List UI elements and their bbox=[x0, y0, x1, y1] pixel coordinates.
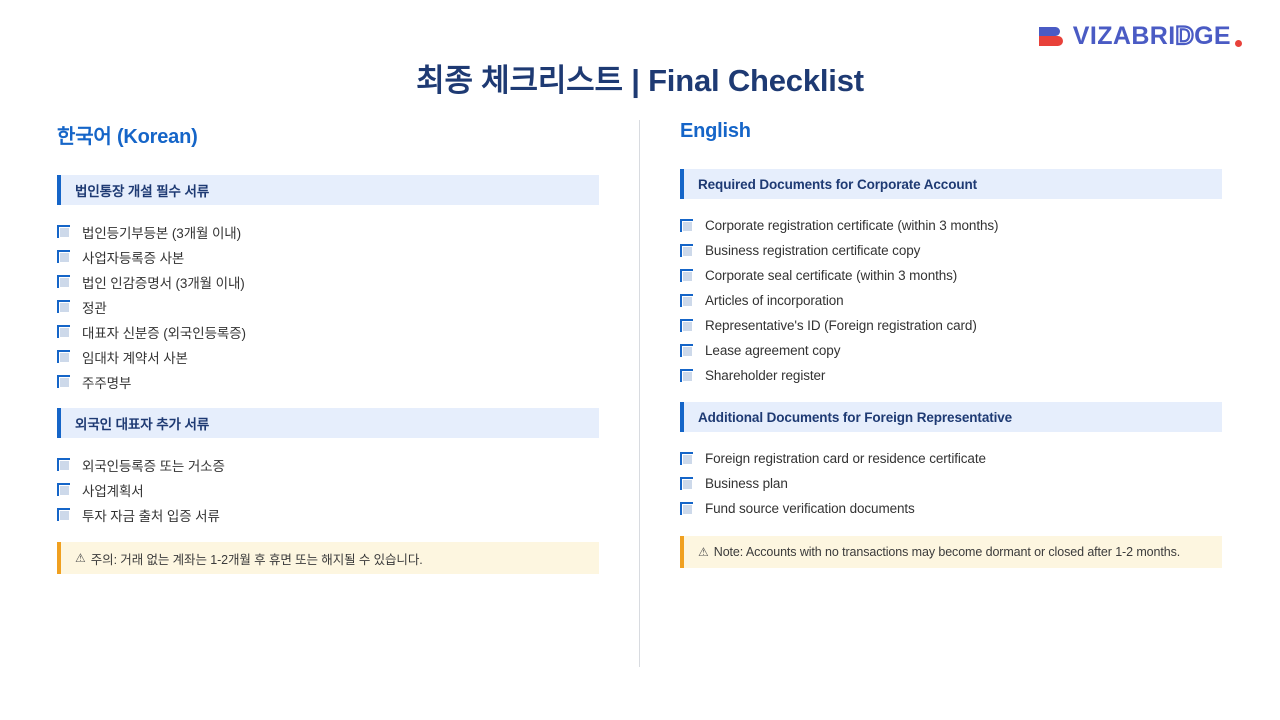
list-item-label: 임대차 계약서 사본 bbox=[82, 347, 188, 367]
checkbox-icon[interactable] bbox=[680, 477, 693, 490]
checkbox-icon[interactable] bbox=[57, 350, 70, 363]
column-divider bbox=[639, 120, 640, 667]
list-item[interactable]: 투자 자금 출처 입증 서류 bbox=[57, 502, 599, 527]
section-spacer bbox=[680, 388, 1222, 402]
checkbox-icon[interactable] bbox=[57, 250, 70, 263]
checkbox-icon[interactable] bbox=[680, 244, 693, 257]
list-item[interactable]: 주주명부 bbox=[57, 369, 599, 394]
checklist-english-additional: Foreign registration card or residence c… bbox=[680, 446, 1222, 521]
section-header-korean-additional: 외국인 대표자 추가 서류 bbox=[57, 408, 599, 438]
checkbox-icon[interactable] bbox=[57, 508, 70, 521]
warning-triangle-icon: ⚠ bbox=[698, 546, 709, 558]
list-item[interactable]: Shareholder register bbox=[680, 363, 1222, 388]
list-item[interactable]: Representative's ID (Foreign registratio… bbox=[680, 313, 1222, 338]
list-item[interactable]: 법인등기부등본 (3개월 이내) bbox=[57, 219, 599, 244]
logo-text-tail: GE bbox=[1194, 24, 1231, 49]
list-item[interactable]: Corporate seal certificate (within 3 mon… bbox=[680, 263, 1222, 288]
list-item-label: 주주명부 bbox=[82, 372, 131, 392]
checkbox-icon[interactable] bbox=[57, 375, 70, 388]
section-title: Required Documents for Corporate Account bbox=[698, 177, 977, 192]
checkbox-icon[interactable] bbox=[680, 269, 693, 282]
checkbox-icon[interactable] bbox=[57, 300, 70, 313]
list-item[interactable]: Articles of incorporation bbox=[680, 288, 1222, 313]
list-item-label: 법인 인감증명서 (3개월 이내) bbox=[82, 272, 245, 292]
list-item-label: 대표자 신분증 (외국인등록증) bbox=[82, 322, 246, 342]
list-item-label: Business plan bbox=[705, 476, 788, 491]
list-item[interactable]: 외국인등록증 또는 거소증 bbox=[57, 452, 599, 477]
list-item-label: Articles of incorporation bbox=[705, 293, 844, 308]
checkbox-icon[interactable] bbox=[680, 319, 693, 332]
note-box-korean: ⚠ 주의: 거래 없는 계좌는 1-2개월 후 휴면 또는 해지될 수 있습니다… bbox=[57, 542, 599, 574]
list-item[interactable]: Business registration certificate copy bbox=[680, 238, 1222, 263]
column-heading-korean: 한국어 (Korean) bbox=[57, 120, 599, 149]
note-box-english: ⚠ Note: Accounts with no transactions ma… bbox=[680, 536, 1222, 568]
list-item[interactable]: 사업자등록증 사본 bbox=[57, 244, 599, 269]
checklist-english-required: Corporate registration certificate (with… bbox=[680, 213, 1222, 388]
checklist-page: VIZABRIDGE 최종 체크리스트 | Final Checklist 한국… bbox=[0, 0, 1280, 720]
list-item[interactable]: Fund source verification documents bbox=[680, 496, 1222, 521]
checkbox-icon[interactable] bbox=[57, 225, 70, 238]
list-item[interactable]: 법인 인감증명서 (3개월 이내) bbox=[57, 269, 599, 294]
column-heading-english: English bbox=[680, 120, 1222, 143]
list-item[interactable]: Foreign registration card or residence c… bbox=[680, 446, 1222, 471]
list-item-label: 사업계획서 bbox=[82, 480, 144, 500]
column-english: English Required Documents for Corporate… bbox=[680, 120, 1222, 568]
list-item-label: 정관 bbox=[82, 297, 107, 317]
section-header-english-additional: Additional Documents for Foreign Represe… bbox=[680, 402, 1222, 432]
list-item-label: Foreign registration card or residence c… bbox=[705, 451, 986, 466]
list-item[interactable]: 임대차 계약서 사본 bbox=[57, 344, 599, 369]
checkbox-icon[interactable] bbox=[680, 294, 693, 307]
page-title: 최종 체크리스트 | Final Checklist bbox=[0, 55, 1280, 100]
section-title: Additional Documents for Foreign Represe… bbox=[698, 410, 1012, 425]
list-item-label: Lease agreement copy bbox=[705, 343, 840, 358]
checkbox-icon[interactable] bbox=[57, 458, 70, 471]
list-item-label: 법인등기부등본 (3개월 이내) bbox=[82, 222, 241, 242]
section-title: 법인통장 개설 필수 서류 bbox=[75, 180, 209, 200]
checkbox-icon[interactable] bbox=[57, 483, 70, 496]
checkbox-icon[interactable] bbox=[680, 369, 693, 382]
checkbox-icon[interactable] bbox=[680, 219, 693, 232]
list-item-label: 사업자등록증 사본 bbox=[82, 247, 184, 267]
checkbox-icon[interactable] bbox=[680, 452, 693, 465]
logo-text-main: VIZABRI bbox=[1073, 24, 1176, 49]
list-item-label: Fund source verification documents bbox=[705, 501, 915, 516]
note-text: Note: Accounts with no transactions may … bbox=[714, 545, 1180, 559]
section-header-korean-required: 법인통장 개설 필수 서류 bbox=[57, 175, 599, 205]
list-item-label: Representative's ID (Foreign registratio… bbox=[705, 318, 977, 333]
checklist-korean-required: 법인등기부등본 (3개월 이내) 사업자등록증 사본 법인 인감증명서 (3개월… bbox=[57, 219, 599, 394]
column-korean: 한국어 (Korean) 법인통장 개설 필수 서류 법인등기부등본 (3개월 … bbox=[57, 120, 599, 574]
list-item[interactable]: Business plan bbox=[680, 471, 1222, 496]
checkbox-icon[interactable] bbox=[680, 344, 693, 357]
checkbox-icon[interactable] bbox=[680, 502, 693, 515]
list-item-label: Business registration certificate copy bbox=[705, 243, 920, 258]
vizabridge-logo-mark bbox=[1039, 24, 1064, 48]
columns-container: 한국어 (Korean) 법인통장 개설 필수 서류 법인등기부등본 (3개월 … bbox=[0, 120, 1280, 668]
list-item[interactable]: Corporate registration certificate (with… bbox=[680, 213, 1222, 238]
logo-dot-icon bbox=[1235, 40, 1242, 47]
list-item-label: 외국인등록증 또는 거소증 bbox=[82, 455, 225, 475]
section-title: 외국인 대표자 추가 서류 bbox=[75, 413, 209, 433]
list-item-label: Shareholder register bbox=[705, 368, 825, 383]
section-spacer bbox=[57, 394, 599, 408]
checkbox-icon[interactable] bbox=[57, 325, 70, 338]
list-item[interactable]: 정관 bbox=[57, 294, 599, 319]
logo-text-hollow: D bbox=[1176, 24, 1194, 49]
warning-triangle-icon: ⚠ bbox=[75, 552, 86, 564]
list-item-label: Corporate registration certificate (with… bbox=[705, 218, 998, 233]
brand-logo: VIZABRIDGE bbox=[1039, 22, 1242, 50]
list-item[interactable]: Lease agreement copy bbox=[680, 338, 1222, 363]
list-item[interactable]: 사업계획서 bbox=[57, 477, 599, 502]
section-header-english-required: Required Documents for Corporate Account bbox=[680, 169, 1222, 199]
checklist-korean-additional: 외국인등록증 또는 거소증 사업계획서 투자 자금 출처 입증 서류 bbox=[57, 452, 599, 527]
brand-wordmark: VIZABRIDGE bbox=[1073, 24, 1242, 49]
list-item-label: Corporate seal certificate (within 3 mon… bbox=[705, 268, 957, 283]
list-item[interactable]: 대표자 신분증 (외국인등록증) bbox=[57, 319, 599, 344]
checkbox-icon[interactable] bbox=[57, 275, 70, 288]
note-text: 주의: 거래 없는 계좌는 1-2개월 후 휴면 또는 해지될 수 있습니다. bbox=[91, 549, 423, 568]
list-item-label: 투자 자금 출처 입증 서류 bbox=[82, 505, 220, 525]
